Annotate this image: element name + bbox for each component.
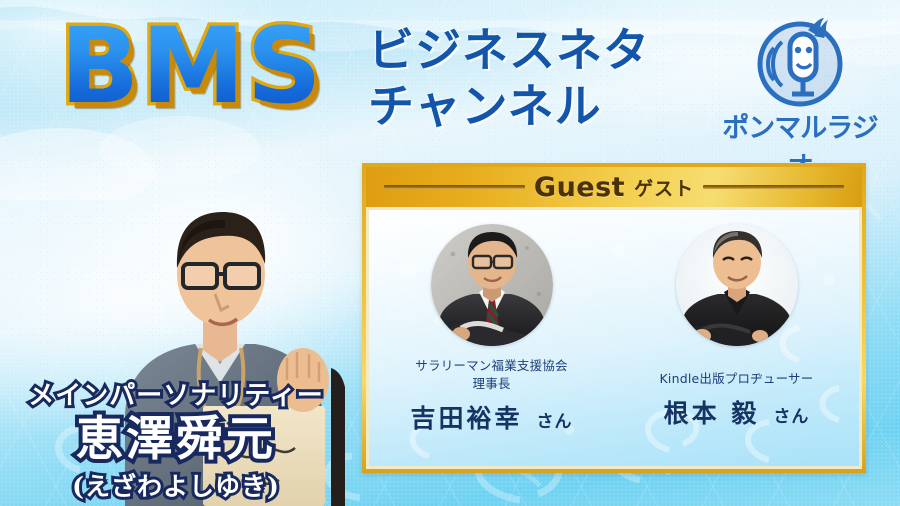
- guest-list: サラリーマン福業支援協会 理事長 吉田裕幸 さん: [369, 210, 859, 466]
- subtitle-line-1: ビジネスネタ: [368, 22, 650, 78]
- guest-2-avatar: [676, 224, 798, 346]
- guest-1-role-line-1: サラリーマン福業支援協会: [415, 357, 567, 375]
- microphone-face-icon: [710, 18, 890, 110]
- guest-1-role-line-2: 理事長: [415, 375, 567, 393]
- main-personality-name: 恵澤舜元: [0, 412, 352, 467]
- guest-1-avatar: [431, 224, 553, 346]
- guest-1-name-row: 吉田裕幸 さん: [410, 399, 572, 435]
- header-rule-right: [703, 185, 844, 189]
- guest-2-role: Kindle出版プロヂューサー: [660, 370, 814, 388]
- main-personality-role: メインパーソナリティー: [0, 375, 352, 412]
- main-personality-kana: (えざわよしゆき): [0, 467, 352, 503]
- radio-logo: ポンマルラジオ: [710, 18, 890, 150]
- guest-panel-body: サラリーマン福業支援協会 理事長 吉田裕幸 さん: [366, 207, 862, 469]
- guest-panel: Guest ゲスト: [362, 163, 866, 473]
- guest-2-role-line-1: Kindle出版プロヂューサー: [660, 370, 814, 388]
- guest-1-honorific: さん: [537, 407, 573, 432]
- thumbnail-canvas: BMS BMS ビジネスネタ チャンネル ポンマルラジオ: [0, 0, 900, 506]
- header-rule-left: [384, 185, 525, 189]
- guest-header-title-en: Guest: [534, 172, 625, 203]
- main-personality-caption: メインパーソナリティー 恵澤舜元 (えざわよしゆき): [0, 375, 352, 503]
- guest-2-name: 根本 毅: [664, 394, 760, 430]
- guest-2-honorific: さん: [773, 402, 809, 427]
- guest-1-role: サラリーマン福業支援協会 理事長: [415, 357, 567, 393]
- guest-card-2: Kindle出版プロヂューサー 根本 毅 さん: [614, 210, 859, 466]
- guest-2-name-row: 根本 毅 さん: [664, 394, 810, 430]
- page-subtitle-japanese: ビジネスネタ チャンネル: [368, 22, 650, 134]
- guest-1-name: 吉田裕幸: [410, 399, 522, 435]
- guest-card-1: サラリーマン福業支援協会 理事長 吉田裕幸 さん: [369, 210, 614, 466]
- page-title-bms: BMS: [60, 14, 324, 118]
- guest-panel-header: Guest ゲスト: [366, 167, 862, 207]
- subtitle-line-2: チャンネル: [368, 78, 650, 134]
- guest-header-title-jp: ゲスト: [634, 174, 694, 201]
